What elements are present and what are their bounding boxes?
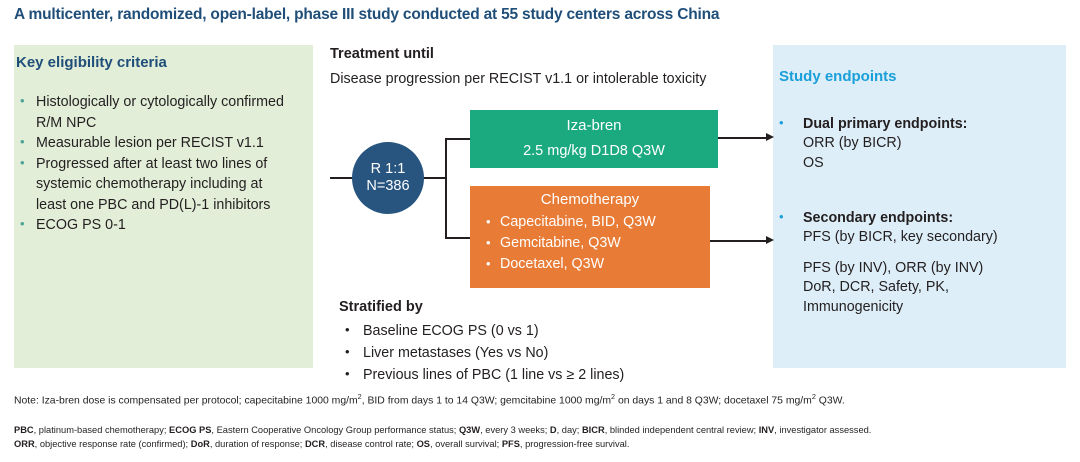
endpoint-body: Secondary endpoints: PFS (by BICR, key s… xyxy=(779,209,1061,317)
connector-entry-line xyxy=(330,177,354,179)
arm-dose: 2.5 mg/kg D1D8 Q3W xyxy=(470,134,718,159)
bullet-icon: • xyxy=(20,153,25,174)
list-item: •Progressed after at least two lines of … xyxy=(14,154,292,216)
treatment-heading: Treatment until xyxy=(330,46,434,62)
list-item: •Previous lines of PBC (1 line vs ≥ 2 li… xyxy=(339,364,624,386)
drug-label: Docetaxel, Q3W xyxy=(500,256,604,272)
endpoints-heading: Study endpoints xyxy=(779,68,897,85)
endpoint-group-title: Secondary endpoints: xyxy=(803,209,1061,228)
bullet-icon: • xyxy=(20,91,25,112)
endpoint-line: ORR (by BICR) xyxy=(803,134,1061,154)
abbreviations-line: ORR, objective response rate (confirmed)… xyxy=(14,438,1070,452)
connector-split-stem xyxy=(422,177,446,179)
randomization-ratio: R 1:1 xyxy=(371,161,406,178)
endpoint-line: PFS (by INV), ORR (by INV) xyxy=(803,259,1061,279)
list-item: •ECOG PS 0-1 xyxy=(14,215,292,236)
endpoint-line: PFS (by BICR, key secondary) xyxy=(803,228,1061,248)
randomization-node: R 1:1 N=386 xyxy=(352,142,424,214)
bullet-icon: • xyxy=(345,363,350,385)
bullet-icon: • xyxy=(486,253,491,274)
endpoint-line: Immunogenicity xyxy=(803,298,1061,318)
list-item: •Docetaxel, Q3W xyxy=(484,254,710,275)
endpoint-group-primary: • Dual primary endpoints: ORR (by BICR) … xyxy=(779,115,1061,173)
stratification-factor: Liver metastases (Yes vs No) xyxy=(363,345,548,361)
bullet-icon: • xyxy=(345,341,350,363)
stratification-factor: Previous lines of PBC (1 line vs ≥ 2 lin… xyxy=(363,367,624,383)
control-arm-drug-list: •Capecitabine, BID, Q3W •Gemcitabine, Q3… xyxy=(470,212,710,275)
stratification-factor-list: •Baseline ECOG PS (0 vs 1) •Liver metast… xyxy=(339,320,624,386)
treatment-subheading: Disease progression per RECIST v1.1 or i… xyxy=(330,71,706,87)
treatment-arm-control: Chemotherapy •Capecitabine, BID, Q3W •Ge… xyxy=(470,186,710,288)
abbreviations-note: PBC, platinum-based chemotherapy; ECOG P… xyxy=(14,424,1070,451)
endpoint-line: DoR, DCR, Safety, PK, xyxy=(803,278,1061,298)
arm-name: Chemotherapy xyxy=(470,186,710,208)
protocol-note: Note: Iza-bren dose is compensated per p… xyxy=(14,392,1070,406)
randomization-sample-size: N=386 xyxy=(366,178,409,195)
connector-arm-control xyxy=(445,237,473,239)
endpoint-group-title: Dual primary endpoints: xyxy=(803,115,1061,134)
stratification-heading: Stratified by xyxy=(339,299,423,315)
connector-split-bar xyxy=(445,138,447,238)
bullet-icon: • xyxy=(486,232,491,253)
list-item: •Measurable lesion per RECIST v1.1 xyxy=(14,133,292,154)
list-item: •Gemcitabine, Q3W xyxy=(484,233,710,254)
arrow-head-icon xyxy=(766,133,774,141)
endpoint-group-secondary: • Secondary endpoints: PFS (by BICR, key… xyxy=(779,209,1061,317)
drug-label: Gemcitabine, Q3W xyxy=(500,235,621,251)
treatment-arm-experimental: Iza-bren 2.5 mg/kg D1D8 Q3W xyxy=(470,110,718,168)
bullet-icon: • xyxy=(20,132,25,153)
list-item: •Baseline ECOG PS (0 vs 1) xyxy=(339,320,624,342)
eligibility-criteria-list: •Histologically or cytologically confirm… xyxy=(14,92,292,236)
list-item: •Liver metastases (Yes vs No) xyxy=(339,342,624,364)
stratification-factor: Baseline ECOG PS (0 vs 1) xyxy=(363,323,539,339)
drug-label: Capecitabine, BID, Q3W xyxy=(500,214,656,230)
eligibility-item-text: Progressed after at least two lines of s… xyxy=(36,156,270,213)
connector-arm-experimental xyxy=(445,138,473,140)
arrow-head-icon xyxy=(766,236,774,244)
arm-name: Iza-bren xyxy=(470,110,718,134)
eligibility-item-text: ECOG PS 0-1 xyxy=(36,217,126,233)
page-title: A multicenter, randomized, open-label, p… xyxy=(14,6,1064,24)
connector-experimental-to-endpoints xyxy=(716,137,768,139)
list-item: •Histologically or cytologically confirm… xyxy=(14,92,292,133)
connector-control-to-endpoints xyxy=(708,240,768,242)
eligibility-item-text: Histologically or cytologically confirme… xyxy=(36,94,284,131)
endpoint-line: OS xyxy=(803,154,1061,174)
list-item: •Capecitabine, BID, Q3W xyxy=(484,212,710,233)
bullet-icon: • xyxy=(486,211,491,232)
eligibility-item-text: Measurable lesion per RECIST v1.1 xyxy=(36,135,264,151)
endpoint-body: Dual primary endpoints: ORR (by BICR) OS xyxy=(779,115,1061,173)
bullet-icon: • xyxy=(345,319,350,341)
bullet-icon: • xyxy=(779,209,784,224)
bullet-icon: • xyxy=(20,214,25,235)
eligibility-heading: Key eligibility criteria xyxy=(16,54,167,71)
bullet-icon: • xyxy=(779,115,784,130)
abbreviations-line: PBC, platinum-based chemotherapy; ECOG P… xyxy=(14,424,1070,438)
endpoints-panel xyxy=(773,45,1066,368)
